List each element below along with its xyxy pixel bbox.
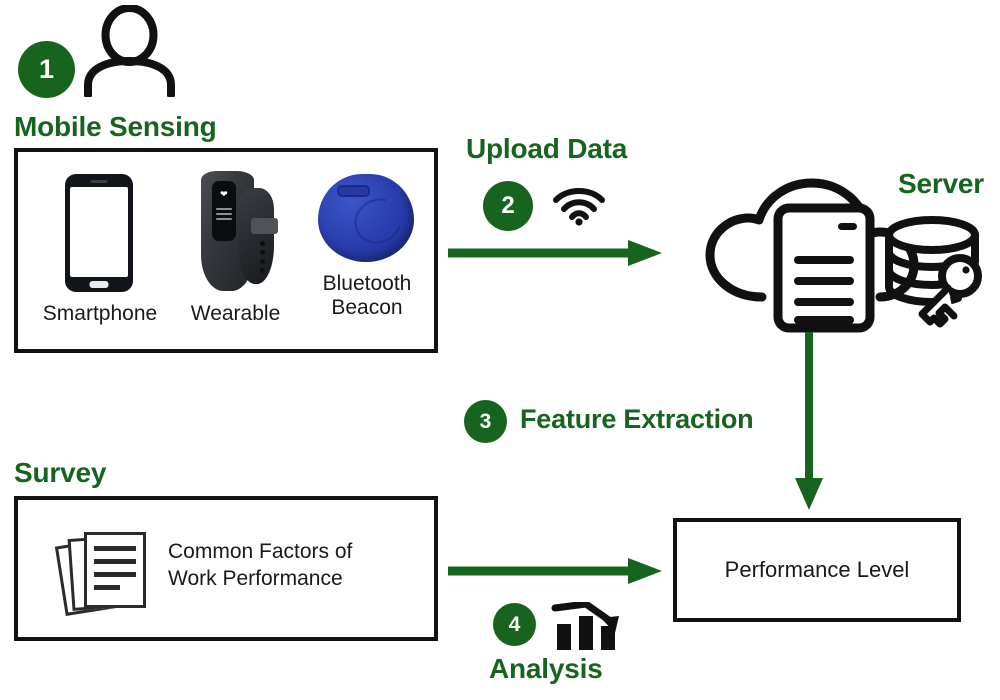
person-icon <box>82 5 177 97</box>
server-rack-icon <box>778 208 870 328</box>
step-badge-2: 2 <box>483 181 533 231</box>
documents-icon <box>60 528 150 614</box>
device-caption-bluetooth-beacon: Bluetooth Beacon <box>303 272 431 319</box>
device-caption-wearable: Wearable <box>173 302 298 326</box>
mobile-sensing-heading: Mobile Sensing <box>14 111 217 143</box>
arrow-server-to-outcome <box>792 330 826 512</box>
arrow-survey-to-outcome <box>446 556 664 586</box>
bluetooth-beacon-icon <box>318 174 414 262</box>
upload-data-heading: Upload Data <box>466 133 627 165</box>
wearable-band-icon: ❤ <box>188 168 280 294</box>
survey-content-text: Common Factors of Work Performance <box>168 539 423 593</box>
mobile-sensing-box: Smartphone ❤ Wearable Bluetooth Beacon <box>14 148 438 353</box>
wifi-icon <box>551 183 607 227</box>
smartphone-icon <box>65 174 133 292</box>
server-icon-group <box>660 152 990 337</box>
performance-level-label: Performance Level <box>725 557 910 583</box>
step-badge-3: 3 <box>464 400 507 443</box>
device-caption-smartphone: Smartphone <box>26 302 174 326</box>
diagram-canvas: 1 Mobile Sensing Smartphone <box>0 0 1000 700</box>
arrow-sensing-to-server <box>446 238 664 268</box>
database-key-icon <box>889 220 978 324</box>
analysis-label: Analysis <box>489 653 603 685</box>
performance-level-box: Performance Level <box>673 518 961 622</box>
bar-chart-arrow-icon <box>551 602 623 650</box>
feature-extraction-label: Feature Extraction <box>520 404 753 435</box>
step-badge-1: 1 <box>18 41 75 98</box>
step-badge-4: 4 <box>493 603 536 646</box>
survey-heading: Survey <box>14 457 106 489</box>
survey-box: Common Factors of Work Performance <box>14 496 438 641</box>
